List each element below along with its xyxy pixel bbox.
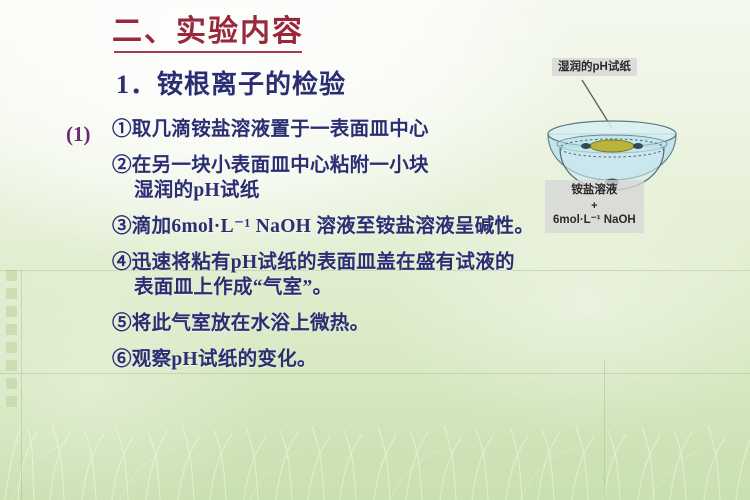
step-item: ③滴加6mol·L⁻¹ NaOH 溶液至铵盐溶液呈碱性。	[112, 215, 542, 240]
callout-ph-paper-label: 湿润的pH试纸	[558, 61, 631, 73]
callout-solution-line1: 铵盐溶液	[553, 183, 636, 199]
step-line: ②在另一块小表面皿中心粘附一小块	[112, 155, 429, 176]
callout-solution-line2: 6mol·L⁻¹ NaOH	[553, 213, 636, 229]
hairline-rule-left	[21, 270, 22, 500]
hairline-rule-right	[604, 360, 605, 500]
step-line: ⑥观察pH试纸的变化。	[112, 349, 317, 370]
step-line-cont: 湿润的pH试纸	[112, 179, 542, 204]
step-line: ④迅速将粘有pH试纸的表面皿盖在盛有试液的	[112, 252, 515, 273]
step-item: ①取几滴铵盐溶液置于一表面皿中心	[112, 118, 542, 143]
page-title-text: 二、实验内容	[112, 15, 304, 48]
step-line-cont: 表面皿上作成“气室”。	[112, 276, 542, 301]
page-title-underline	[114, 51, 302, 53]
step-item: ④迅速将粘有pH试纸的表面皿盖在盛有试液的 表面皿上作成“气室”。	[112, 251, 542, 301]
slide-canvas: 二、实验内容 1．铵根离子的检验 (1) ①取几滴铵盐溶液置于一表面皿中心 ②在…	[0, 0, 750, 500]
step-line: ①取几滴铵盐溶液置于一表面皿中心	[112, 119, 429, 140]
filmstrip-decoration	[4, 270, 20, 420]
contact-mark-right	[633, 143, 643, 149]
contact-mark-left	[581, 143, 591, 149]
page-title: 二、实验内容	[112, 6, 304, 50]
experiment-diagram: 湿润的pH试纸 铵盐溶液 + 6mol·L⁻¹ NaOH	[520, 58, 748, 238]
step-item: ⑥观察pH试纸的变化。	[112, 348, 542, 373]
step-item: ②在另一块小表面皿中心粘附一小块 湿润的pH试纸	[112, 154, 542, 204]
step-item: ⑤将此气室放在水浴上微热。	[112, 312, 542, 337]
callout-solution-plus: +	[553, 199, 636, 214]
callout-ph-paper: 湿润的pH试纸	[552, 58, 637, 76]
ph-test-paper	[590, 140, 634, 152]
section-title: 1．铵根离子的检验	[116, 64, 346, 101]
step-line: ⑤将此气室放在水浴上微热。	[112, 313, 369, 334]
step-list: ①取几滴铵盐溶液置于一表面皿中心 ②在另一块小表面皿中心粘附一小块 湿润的pH试…	[112, 118, 542, 384]
callout-solution: 铵盐溶液 + 6mol·L⁻¹ NaOH	[545, 180, 644, 233]
item-marker: (1)	[66, 122, 91, 147]
step-line: ③滴加6mol·L⁻¹ NaOH 溶液至铵盐溶液呈碱性。	[112, 216, 534, 237]
